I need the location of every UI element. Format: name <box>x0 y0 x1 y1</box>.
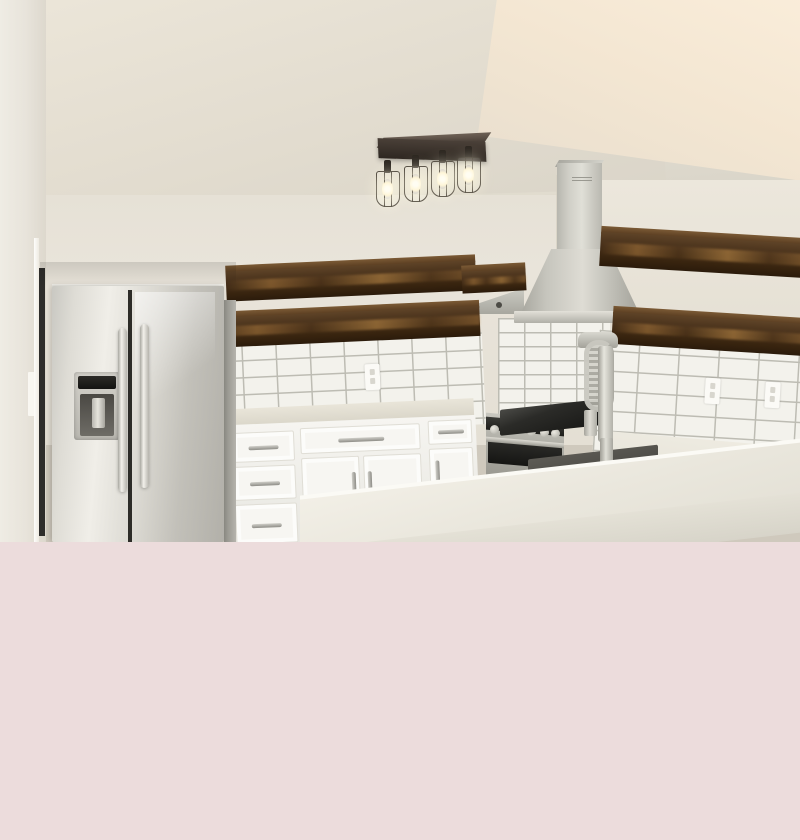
faucet-column <box>598 346 613 442</box>
wall-outlet <box>764 382 781 409</box>
range-knob <box>551 429 560 438</box>
wall-outlet <box>364 364 380 391</box>
refrigerator-handle <box>140 324 149 488</box>
refrigerator-side <box>224 300 236 542</box>
range-knob <box>490 425 499 434</box>
water-dispenser-panel <box>78 376 116 389</box>
info-panel: The Future of Phoenix Home Remodeling is… <box>0 542 800 840</box>
range-hood-knob <box>496 302 502 308</box>
floating-shelf <box>461 268 526 293</box>
cabinet-drawer <box>235 502 299 542</box>
range-hood-vent <box>572 177 592 181</box>
door-jamb-shadow <box>39 268 45 536</box>
wall-outlet <box>704 378 721 405</box>
faucet-spout <box>584 410 597 436</box>
refrigerator-door-gap <box>128 290 132 542</box>
page-root: The Future of Phoenix Home Remodeling is… <box>0 0 800 840</box>
wall-switch-plate <box>28 372 35 416</box>
kitchen-photo <box>0 0 800 542</box>
water-dispenser-lever <box>92 398 105 428</box>
refrigerator-handle <box>118 328 127 492</box>
